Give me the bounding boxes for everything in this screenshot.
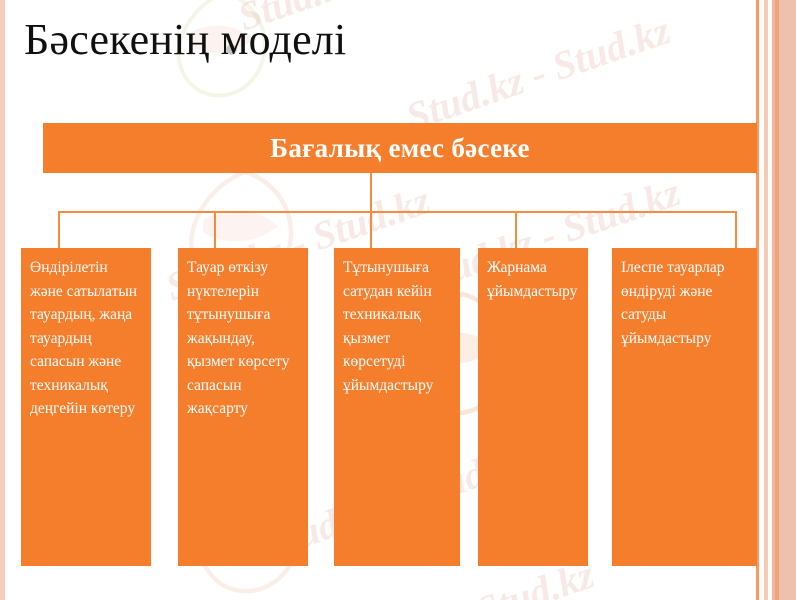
connector-drop-5	[735, 211, 737, 248]
page-title: Бәсекенің моделі	[24, 16, 346, 64]
diagram-node[interactable]: Тұтынушыға сатудан кейін техникалық қызм…	[334, 248, 460, 566]
connector-drop-1	[58, 211, 60, 248]
diagram-node-label: Жарнама ұйымдастыру	[487, 259, 577, 300]
right-edge-stripe-4	[775, 0, 779, 600]
diagram-node[interactable]: Жарнама ұйымдастыру	[478, 248, 588, 566]
diagram-root-label: Бағалық емес бәсеке	[270, 133, 530, 164]
diagram-node[interactable]: Өндірілетін және сатылатын тауардың, жаң…	[21, 248, 151, 566]
connector-drop-3	[370, 211, 372, 248]
diagram-node-label: Тұтынушыға сатудан кейін техникалық қызм…	[343, 259, 433, 394]
connector-drop-2	[214, 211, 216, 248]
diagram-node-label: Өндірілетін және сатылатын тауардың, жаң…	[30, 259, 137, 417]
diagram-node[interactable]: Тауар өткізу нүктелерін тұтынушыға жақын…	[178, 248, 308, 566]
diagram-node-label: Ілеспе тауарлар өндіруді және сатуды ұйы…	[621, 259, 724, 347]
watermark-text: Stud.kz - Stud.kz	[400, 6, 676, 140]
connector-drop-4	[515, 211, 517, 248]
diagram-root-node[interactable]: Бағалық емес бәсеке	[43, 123, 757, 173]
slide-canvas: Stud.kz Stud.kz - Stud.kz Stud.kz - Stud…	[0, 0, 796, 600]
diagram-node-label: Тауар өткізу нүктелерін тұтынушыға жақын…	[187, 259, 289, 417]
connector-horizontal-bus	[58, 211, 737, 213]
left-edge-stripe	[0, 0, 5, 600]
right-edge-stripe-5	[779, 0, 796, 600]
right-edge-stripe-2	[764, 0, 768, 600]
connector-root-stem	[370, 173, 372, 212]
right-edge-stripe-3	[772, 0, 775, 600]
diagram-node[interactable]: Ілеспе тауарлар өндіруді және сатуды ұйы…	[612, 248, 757, 566]
